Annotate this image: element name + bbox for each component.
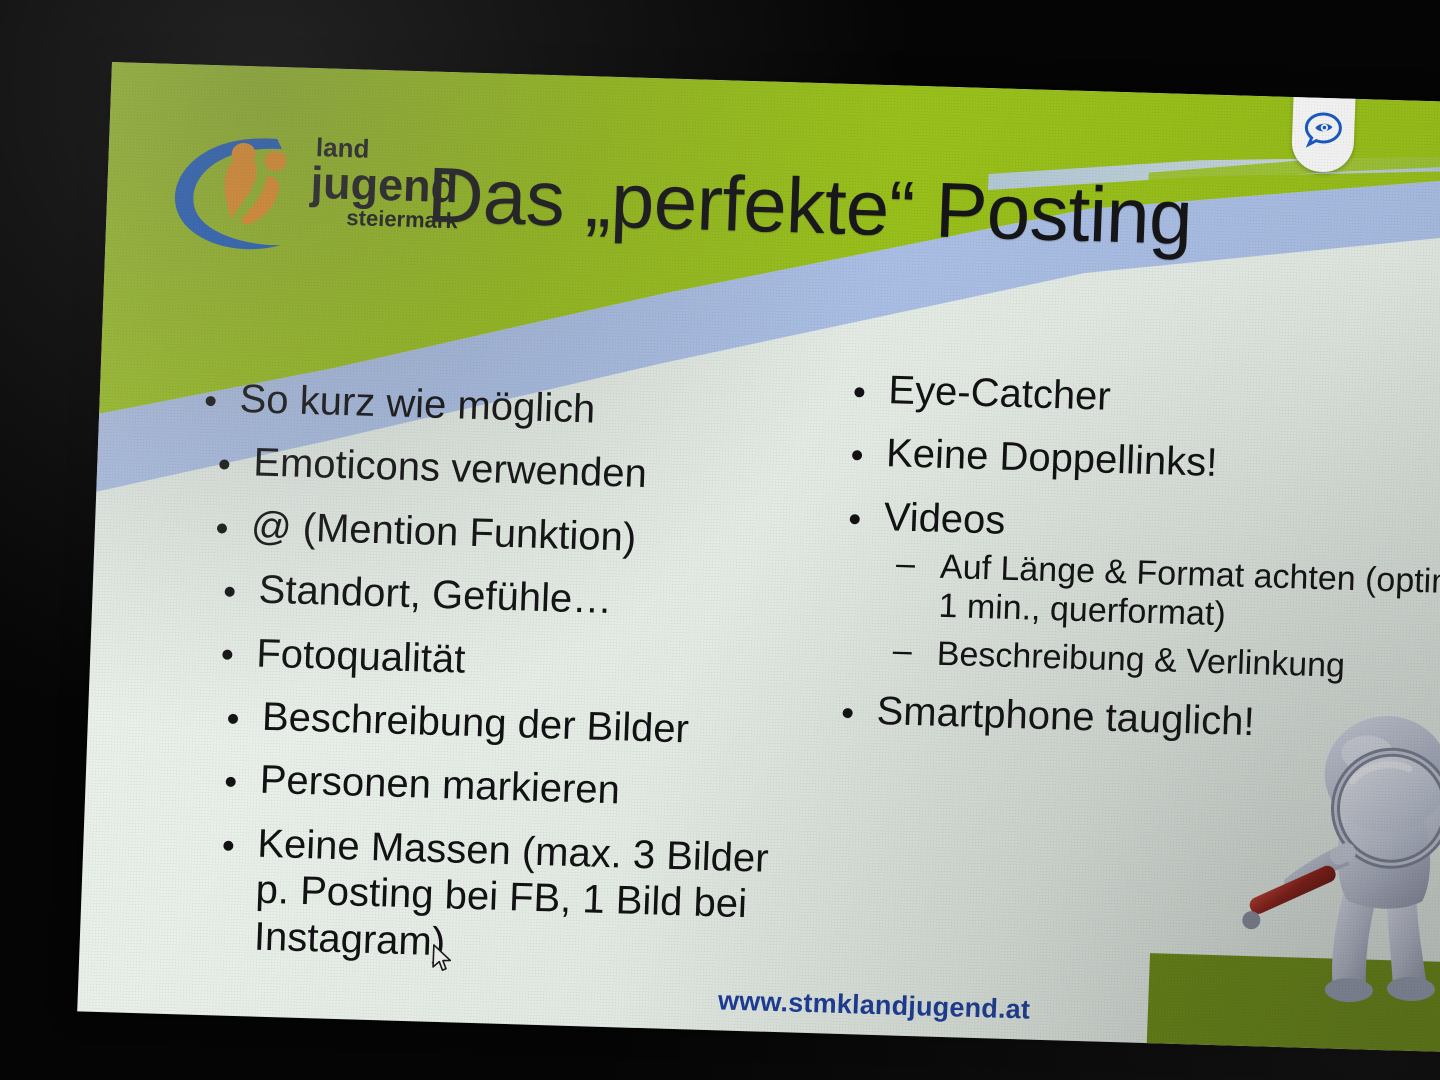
mascot-figure-with-magnifier [1232, 692, 1440, 1009]
bullet-item: Keine Massen (max. 3 Bilder p. Posting b… [205, 819, 796, 975]
footer-url: www.stmklandjugend.at [717, 985, 1030, 1025]
bullet-item: Eye-Catcher [840, 366, 1440, 432]
bullet-item: Keine Doppellinks! [837, 429, 1440, 495]
bullet-item: Fotoqualität [208, 629, 803, 693]
slide-surface: land jugend steiermark Das „perfekte“ Po… [76, 62, 1440, 1080]
bullet-item: Videos Auf Länge & Format achten (optima… [830, 492, 1440, 689]
left-bullet-list: So kurz wie möglich Emoticons verwenden … [171, 375, 812, 976]
sub-bullet-list: Auf Länge & Format achten (optimal 1 min… [878, 546, 1440, 689]
speech-bubble-eye-icon[interactable] [1291, 87, 1356, 173]
bullet-label: Videos [883, 495, 1006, 543]
bullet-item: @ (Mention Funktion) [202, 502, 807, 566]
bullet-item: Standort, Gefühle… [210, 565, 805, 629]
bullet-item: Beschreibung der Bilder [213, 692, 800, 756]
sub-bullet-item: Auf Länge & Format achten (optimal 1 min… [880, 546, 1440, 642]
sub-bullet-item: Beschreibung & Verlinkung [878, 633, 1440, 690]
bullet-item: So kurz wie möglich [191, 375, 812, 440]
photo-of-screen: land jugend steiermark Das „perfekte“ Po… [0, 0, 1440, 1080]
bullet-item: Emoticons verwenden [205, 438, 810, 502]
left-bullet-column: So kurz wie möglich Emoticons verwenden … [171, 375, 813, 993]
bullet-item: Personen markieren [211, 756, 798, 820]
presentation-slide: land jugend steiermark Das „perfekte“ Po… [77, 62, 1440, 1053]
mouse-arrow-cursor [431, 944, 454, 975]
